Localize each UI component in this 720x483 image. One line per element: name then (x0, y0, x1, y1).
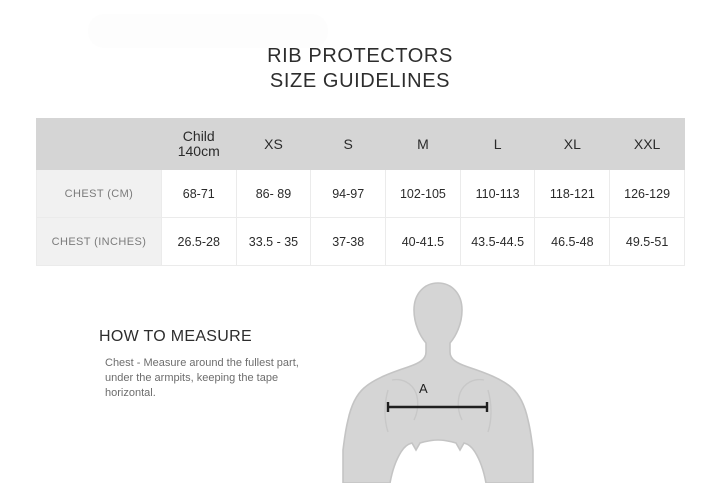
how-to-measure-body: Chest - Measure around the fullest part,… (99, 356, 329, 401)
chest-measure-line (385, 400, 490, 414)
cell-chest-cm-l: 110-113 (460, 170, 535, 218)
how-to-measure-title: HOW TO MEASURE (99, 328, 329, 346)
column-header-xs: XS (236, 119, 311, 170)
column-header-child: Child 140cm (161, 119, 236, 170)
cell-chest-in-m: 40-41.5 (386, 218, 461, 266)
background-watermark (88, 14, 328, 48)
column-header-child-label: Child (183, 128, 215, 144)
title-line-2: SIZE GUIDELINES (0, 69, 720, 94)
cell-chest-cm-child: 68-71 (161, 170, 236, 218)
torso-illustration (330, 280, 546, 483)
cell-chest-cm-xxl: 126-129 (610, 170, 685, 218)
table-row: CHEST (CM) 68-71 86- 89 94-97 102-105 11… (37, 170, 685, 218)
column-header-m: M (386, 119, 461, 170)
size-guide-table: Child 140cm XS S M L XL XXL CHEST (CM) 6… (36, 118, 685, 266)
measure-label-a: A (419, 381, 428, 396)
cell-chest-in-child: 26.5-28 (161, 218, 236, 266)
table-header-row: Child 140cm XS S M L XL XXL (37, 119, 685, 170)
cell-chest-in-xl: 46.5-48 (535, 218, 610, 266)
body-silhouette (343, 283, 533, 483)
cell-chest-in-xxl: 49.5-51 (610, 218, 685, 266)
table-corner-cell (37, 119, 162, 170)
row-label-chest-inches: CHEST (INCHES) (37, 218, 162, 266)
cell-chest-cm-xs: 86- 89 (236, 170, 311, 218)
row-label-chest-cm: CHEST (CM) (37, 170, 162, 218)
cell-chest-cm-m: 102-105 (386, 170, 461, 218)
cell-chest-cm-s: 94-97 (311, 170, 386, 218)
column-header-child-sublabel: 140cm (163, 144, 235, 159)
table-row: CHEST (INCHES) 26.5-28 33.5 - 35 37-38 4… (37, 218, 685, 266)
title-line-1: RIB PROTECTORS (0, 44, 720, 69)
column-header-s: S (311, 119, 386, 170)
cell-chest-in-l: 43.5-44.5 (460, 218, 535, 266)
cell-chest-in-xs: 33.5 - 35 (236, 218, 311, 266)
column-header-xxl: XXL (610, 119, 685, 170)
page-title: RIB PROTECTORS SIZE GUIDELINES (0, 44, 720, 94)
cell-chest-in-s: 37-38 (311, 218, 386, 266)
cell-chest-cm-xl: 118-121 (535, 170, 610, 218)
how-to-measure-section: HOW TO MEASURE Chest - Measure around th… (99, 328, 329, 401)
column-header-l: L (460, 119, 535, 170)
column-header-xl: XL (535, 119, 610, 170)
